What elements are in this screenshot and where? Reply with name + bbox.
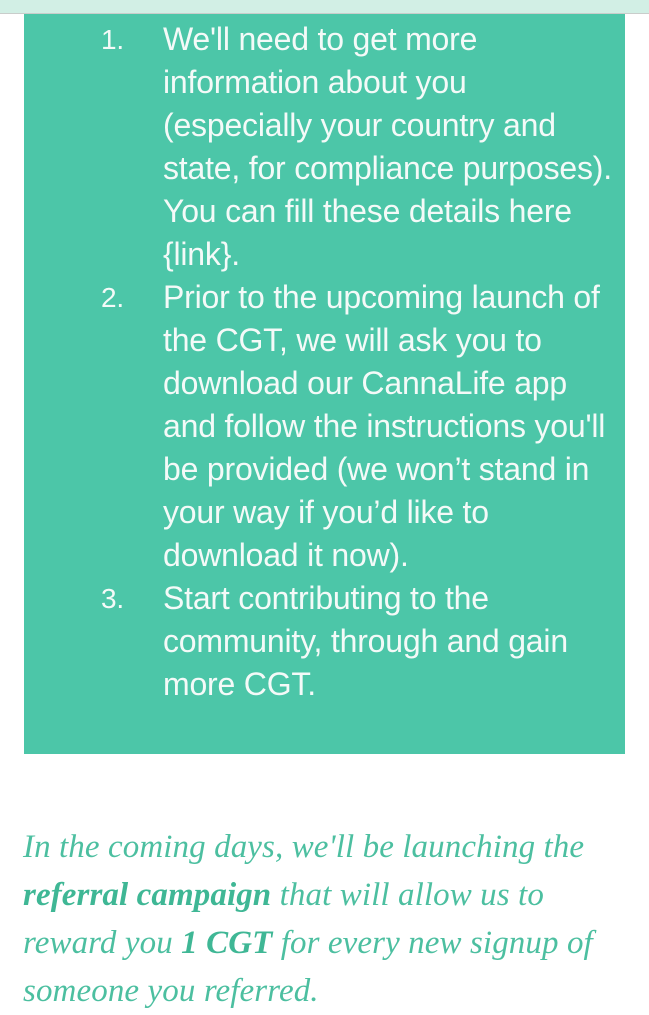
closing-emphasis-one-cgt: 1 CGT — [181, 925, 272, 961]
list-item-text: Start contributing to the community, thr… — [124, 577, 621, 706]
top-mint-band — [0, 0, 649, 13]
list-item-text: We'll need to get more information about… — [124, 18, 621, 276]
callout-content: 1. We'll need to get more information ab… — [24, 14, 625, 706]
list-item-marker: 3. — [85, 577, 124, 620]
list-item-marker: 2. — [85, 276, 124, 319]
closing-paragraph: In the coming days, we'll be launching t… — [23, 823, 633, 1015]
closing-emphasis-referral-campaign: referral campaign — [23, 877, 271, 913]
teal-callout-panel: 1. We'll need to get more information ab… — [24, 14, 625, 754]
closing-text-part1: In the coming days, we'll be launching t… — [23, 829, 584, 865]
instruction-list: 1. We'll need to get more information ab… — [85, 18, 625, 706]
list-item: 2. Prior to the upcoming launch of the C… — [85, 276, 625, 577]
list-item: 1. We'll need to get more information ab… — [85, 18, 625, 276]
list-item: 3. Start contributing to the community, … — [85, 577, 625, 706]
list-item-text: Prior to the upcoming launch of the CGT,… — [124, 276, 621, 577]
list-item-marker: 1. — [85, 18, 124, 61]
